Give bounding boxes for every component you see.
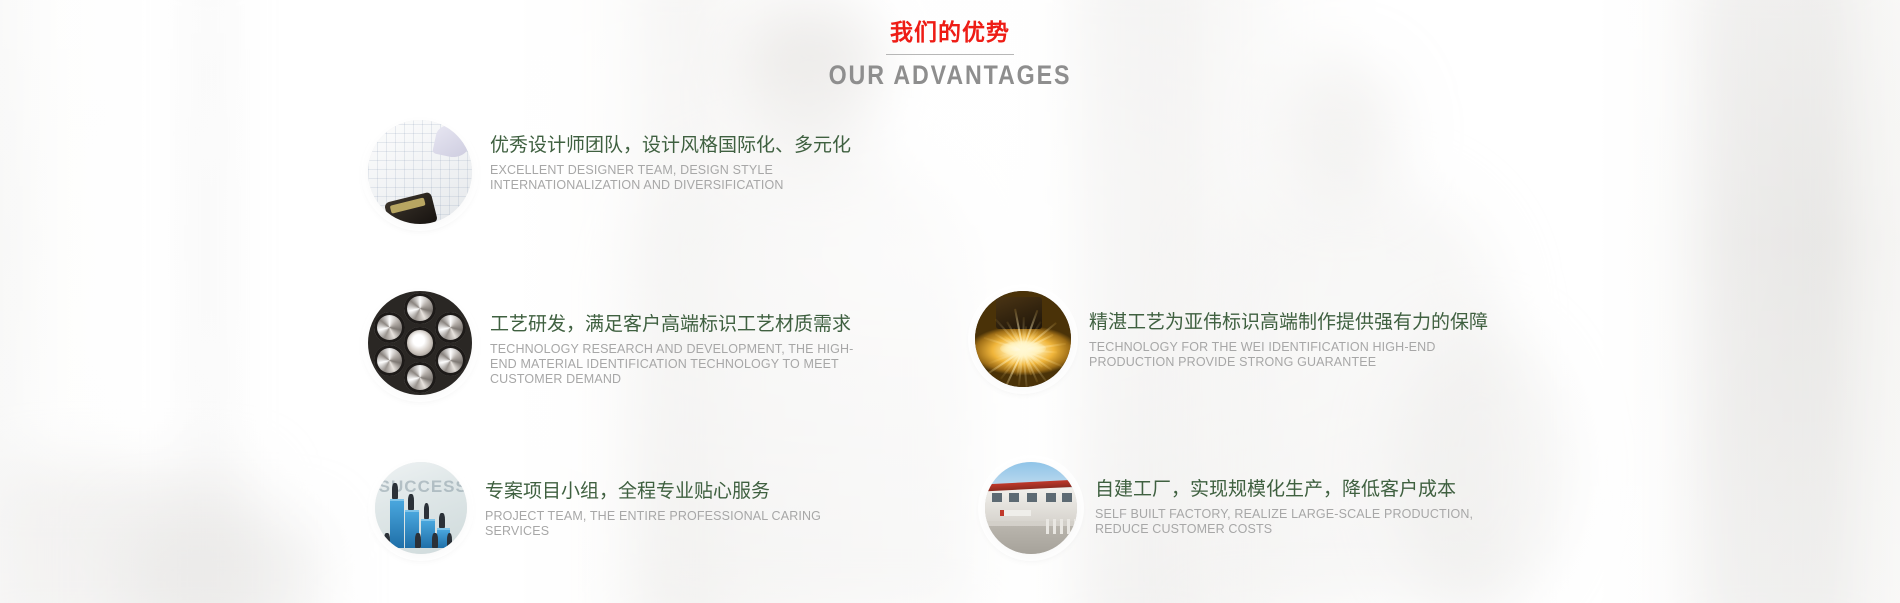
feature-item-self-built-factory[interactable]: 自建工厂，实现规模化生产，降低客户成本 SELF BUILT FACTORY, …	[985, 462, 1495, 554]
feature-title: 自建工厂，实现规模化生产，降低客户成本	[1095, 476, 1495, 502]
feature-title: 精湛工艺为亚伟标识高端制作提供强有力的保障	[1089, 309, 1489, 335]
feature-title: 工艺研发，满足客户高端标识工艺材质需求	[490, 311, 870, 337]
feature-title: 专案项目小组，全程专业贴心服务	[485, 478, 865, 504]
section-header: 我们的优势 OUR ADVANTAGES	[0, 18, 1900, 91]
section-title-divider	[886, 54, 1014, 55]
feature-item-craftsmanship-guarantee[interactable]: 精湛工艺为亚伟标识高端制作提供强有力的保障 TECHNOLOGY FOR THE…	[975, 291, 1489, 387]
feature-subtitle: PROJECT TEAM, THE ENTIRE PROFESSIONAL CA…	[485, 509, 865, 539]
advantages-section: 我们的优势 OUR ADVANTAGES 优秀设计师团队，设计风格国际化、多元化…	[0, 0, 1900, 603]
metal-cylinders-icon	[368, 291, 472, 395]
feature-subtitle: EXCELLENT DESIGNER TEAM, DESIGN STYLE IN…	[490, 163, 870, 193]
feature-item-designer-team[interactable]: 优秀设计师团队，设计风格国际化、多元化 EXCELLENT DESIGNER T…	[368, 120, 870, 224]
color-swatch-fan-icon	[368, 120, 472, 224]
feature-item-technology-rd[interactable]: 工艺研发，满足客户高端标识工艺材质需求 TECHNOLOGY RESEARCH …	[368, 291, 870, 395]
feature-subtitle: TECHNOLOGY FOR THE WEI IDENTIFICATION HI…	[1089, 340, 1489, 370]
feature-text: 专案项目小组，全程专业贴心服务 PROJECT TEAM, THE ENTIRE…	[485, 462, 865, 539]
feature-text: 自建工厂，实现规模化生产，降低客户成本 SELF BUILT FACTORY, …	[1095, 462, 1495, 537]
factory-building-icon	[985, 462, 1077, 554]
feature-text: 工艺研发，满足客户高端标识工艺材质需求 TECHNOLOGY RESEARCH …	[490, 291, 870, 387]
feature-text: 精湛工艺为亚伟标识高端制作提供强有力的保障 TECHNOLOGY FOR THE…	[1089, 291, 1489, 370]
section-title-cn: 我们的优势	[0, 18, 1900, 48]
welding-sparks-icon	[975, 291, 1071, 387]
section-title-en: OUR ADVANTAGES	[133, 59, 1767, 91]
advantages-content: 我们的优势 OUR ADVANTAGES 优秀设计师团队，设计风格国际化、多元化…	[0, 0, 1900, 603]
feature-item-project-team[interactable]: SUCCESS 专案项目小组，全程专业贴心服务 PROJECT TEAM, TH…	[375, 462, 865, 554]
feature-subtitle: SELF BUILT FACTORY, REALIZE LARGE-SCALE …	[1095, 507, 1495, 537]
business-bar-chart-icon: SUCCESS	[375, 462, 467, 554]
feature-subtitle: TECHNOLOGY RESEARCH AND DEVELOPMENT, THE…	[490, 342, 870, 387]
feature-title: 优秀设计师团队，设计风格国际化、多元化	[490, 132, 870, 158]
feature-text: 优秀设计师团队，设计风格国际化、多元化 EXCELLENT DESIGNER T…	[490, 120, 870, 193]
